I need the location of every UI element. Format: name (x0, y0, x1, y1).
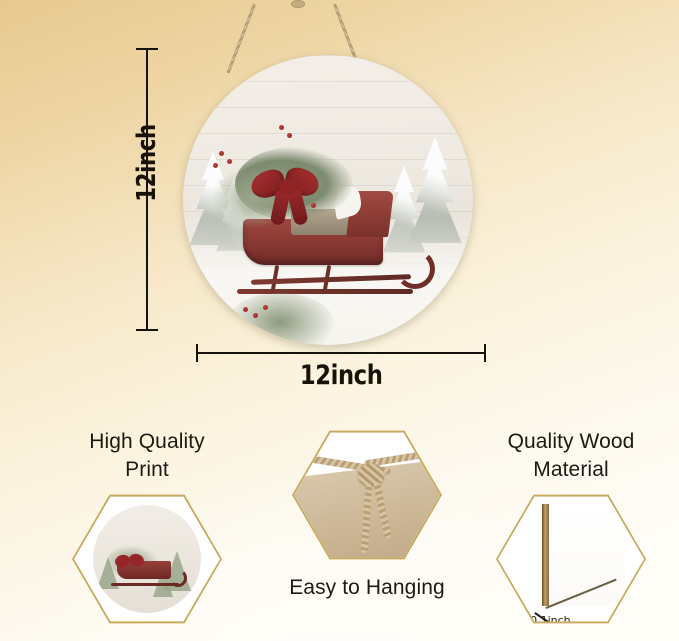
sleigh-runner-curl (395, 249, 435, 289)
mini-sleigh-curl (169, 569, 187, 587)
height-dimension-label: 12inch (132, 118, 162, 208)
mini-sleigh-runner (111, 583, 179, 586)
red-berry (253, 313, 258, 318)
feature-title-line1: High Quality (89, 430, 205, 453)
red-berry (279, 125, 284, 130)
feature-image-hexagon (72, 492, 222, 626)
feature-panel-high-quality-print: High Quality Print (34, 428, 260, 626)
sign-artwork (183, 55, 473, 345)
feature-panel-easy-to-hanging: Easy to Hanging (254, 420, 480, 602)
feature-title-line1: Quality Wood (508, 430, 635, 453)
sleigh-backrest (346, 191, 394, 237)
red-berry (227, 159, 232, 164)
height-dimension-cap-bottom (136, 329, 158, 331)
height-dimension-cap-top (136, 48, 158, 50)
feature-title: Easy to Hanging (254, 574, 480, 602)
wood-thickness-diagram: 0.1inch (498, 494, 644, 624)
feature-title-line2: Print (125, 458, 169, 481)
width-dimension-label: 12inch (196, 360, 486, 391)
feature-title-line1: Easy to Hanging (289, 576, 445, 599)
feature-title: High Quality Print (34, 428, 260, 484)
hexagon-inner (294, 430, 440, 560)
hexagon-inner (74, 494, 220, 624)
feature-panel-quality-wood-material: Quality Wood Material 0.1inch (458, 428, 679, 626)
round-wood-sign (183, 55, 473, 345)
feature-title: Quality Wood Material (458, 428, 679, 484)
red-berry (287, 133, 292, 138)
red-berry (219, 151, 224, 156)
width-dimension-label-text: 12inch (300, 360, 383, 391)
feature-image-hexagon: 0.1inch (496, 492, 646, 626)
mini-red-bow (115, 553, 145, 575)
board-edge-thickness (542, 504, 549, 605)
bow-center-knot (279, 179, 297, 195)
sleigh-medallion (93, 505, 201, 613)
red-ribbon-bow (251, 167, 325, 219)
red-berry (311, 203, 316, 208)
red-berry (263, 305, 268, 310)
feature-title-line2: Material (533, 458, 609, 481)
width-dimension-rule (196, 352, 486, 354)
rope-knot-icon (291, 0, 305, 8)
red-berry (213, 163, 218, 168)
hexagon-inner: 0.1inch (498, 494, 644, 624)
rope-knot (358, 464, 384, 486)
feature-image-hexagon (292, 428, 442, 562)
hero-product (183, 0, 473, 345)
rope-knot-photo (294, 430, 440, 560)
sleigh-runner-back (237, 289, 413, 294)
mini-sleigh (109, 551, 187, 595)
red-berry (243, 307, 248, 312)
sleigh-print-medallion-photo (74, 494, 220, 624)
infographic-canvas: 12inch 12inch (0, 0, 679, 641)
